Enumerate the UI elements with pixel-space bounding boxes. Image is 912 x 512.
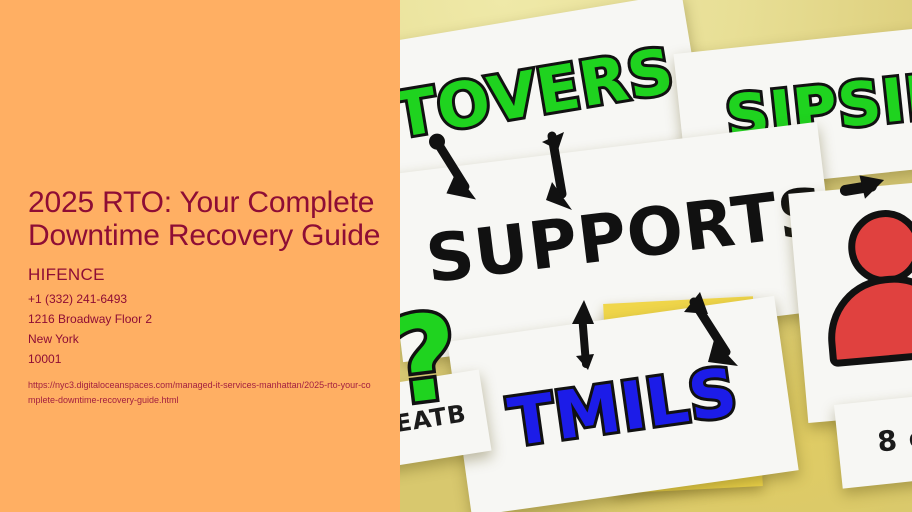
social-preview-card: 2025 RTO: Your Complete Downtime Recover… [0, 0, 912, 512]
arrow-double-diagonal-icon [680, 290, 744, 376]
left-text-panel: 2025 RTO: Your Complete Downtime Recover… [0, 0, 400, 512]
arrow-double-vertical-icon [536, 128, 582, 218]
text-block: 2025 RTO: Your Complete Downtime Recover… [28, 186, 400, 408]
contact-street: 1216 Broadway Floor 2 [28, 309, 400, 329]
page-title-line-2: Downtime Recovery Guide [28, 219, 400, 252]
person-icon-body [823, 270, 912, 367]
contact-phone: +1 (332) 241-6493 [28, 289, 400, 309]
hero-image: TOVERS SIPSID SUPPORTS TMILS EATB 8 e ? [400, 0, 912, 512]
brand-name: HIFENCE [28, 264, 400, 285]
sticky-note-eight-text: 8 e [876, 423, 912, 456]
arrow-down-icon [424, 134, 489, 208]
sticky-note-eight: 8 e [834, 391, 912, 488]
contact-city: New York [28, 329, 400, 349]
page-title-line-1: 2025 RTO: Your Complete [28, 186, 400, 219]
contact-zip: 10001 [28, 349, 400, 369]
person-icon [821, 205, 912, 375]
arrow-up-icon [568, 296, 602, 374]
page-title: 2025 RTO: Your Complete Downtime Recover… [28, 186, 400, 252]
source-url: https://nyc3.digitaloceanspaces.com/mana… [28, 378, 374, 408]
